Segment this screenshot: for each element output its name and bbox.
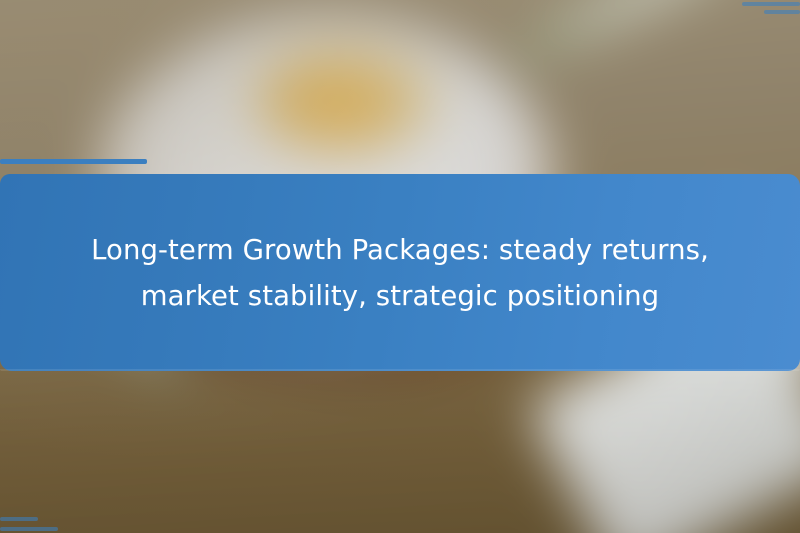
headline-line-2: market stability, strategic positioning <box>141 273 660 319</box>
headline-banner: Long-term Growth Packages: steady return… <box>0 174 800 373</box>
banner-headline: Long-term Growth Packages: steady return… <box>0 174 800 371</box>
accent-rule-top-left <box>0 159 147 164</box>
accent-rule-bottom-left-2 <box>0 527 58 531</box>
accent-rule-bottom-left-1 <box>0 517 38 521</box>
headline-line-1: Long-term Growth Packages: steady return… <box>91 227 709 273</box>
accent-rule-top-right-2 <box>764 10 800 14</box>
accent-rule-top-right-1 <box>742 2 800 6</box>
banner-image-canvas: Long-term Growth Packages: steady return… <box>0 0 800 533</box>
